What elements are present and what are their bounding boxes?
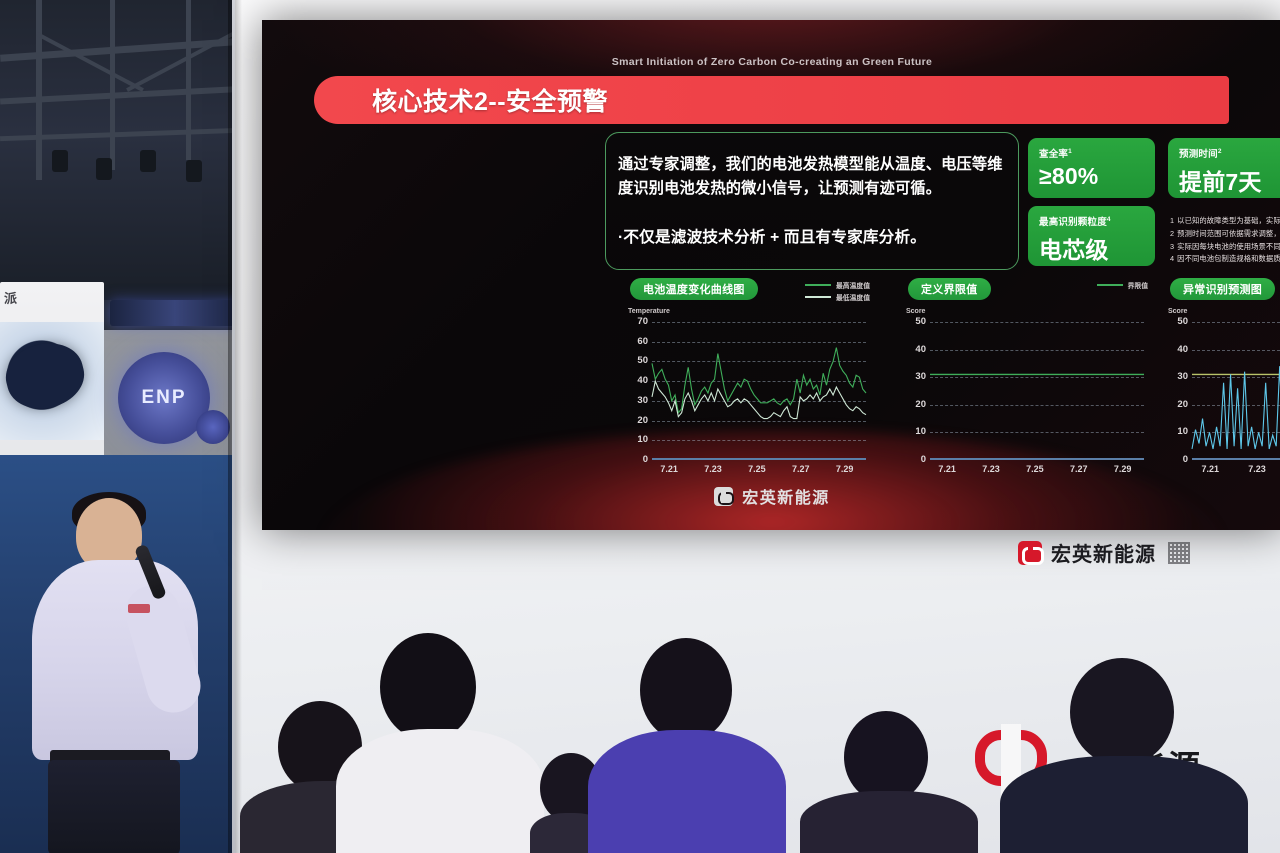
- photo-scene: 派 ENP Smart Initiation of Zero Carbon Co…: [0, 0, 1280, 853]
- chart-series-svg: [930, 322, 1144, 460]
- product-display-label: 派: [4, 288, 98, 316]
- chart-threshold-definition: 定义界限值界限值Score010203040507.217.237.257.27…: [900, 278, 1148, 478]
- x-axis-tick: 7.21: [1201, 464, 1219, 474]
- wall-brand-logo: 宏英新能源: [1018, 538, 1190, 567]
- y-axis-tick: 30: [1164, 371, 1188, 382]
- x-axis-tick: 7.23: [704, 464, 722, 474]
- legend-item: 最高温度值: [805, 280, 870, 290]
- chart-battery-temperature: 电池温度变化曲线图最高温度值最低温度值Temperature0102030405…: [622, 278, 870, 478]
- legend-swatch: [1097, 284, 1123, 286]
- legend-swatch: [805, 296, 831, 298]
- audience-member: [800, 703, 980, 853]
- y-axis-tick: 70: [624, 316, 648, 327]
- y-axis-tick: 60: [624, 336, 648, 347]
- wall-brand-text: 宏英新能源: [1051, 538, 1156, 567]
- y-axis-tick: 0: [624, 454, 648, 465]
- data-series-line: [1192, 322, 1280, 449]
- decorative-circle: [196, 410, 230, 444]
- y-axis-tick: 20: [902, 399, 926, 410]
- audience-member: [588, 638, 788, 853]
- background-product-display: 派: [0, 282, 104, 462]
- stat-badge-lead-time-caption: 预测时间2: [1179, 146, 1278, 160]
- stat-badge-granularity-caption: 最高识别颗粒度4: [1039, 214, 1145, 228]
- x-axis-tick: 7.27: [1070, 464, 1088, 474]
- chart-series-svg: [1192, 322, 1280, 460]
- x-axis-tick: 7.23: [982, 464, 1000, 474]
- product-photo: [0, 322, 104, 440]
- y-axis-tick: 40: [1164, 344, 1188, 355]
- stat-badge-lead-time: 预测时间2 提前7天: [1168, 138, 1280, 198]
- stat-badge-recall-caption: 查全率1: [1039, 146, 1145, 160]
- slide-body-box: 通过专家调整，我们的电池发热模型能从温度、电压等维度识别电池发热的微小信号，让预…: [605, 132, 1019, 270]
- x-axis-tick: 7.21: [660, 464, 678, 474]
- legend-item: 界限值: [1097, 280, 1148, 290]
- footnote-item: 2预测时间范围可依据需求调整，以实际结果为准。: [1170, 228, 1280, 241]
- legend-label: 最高温度值: [836, 280, 870, 290]
- legend-swatch: [805, 284, 831, 286]
- footnote-item: 1以已知的故障类型为基础，实际因场景和电池材料不同有区别 。: [1170, 215, 1280, 228]
- legend-item: 最低温度值: [805, 292, 870, 302]
- stat-badge-lead-time-value: 提前7天: [1179, 163, 1278, 197]
- y-axis-tick: 50: [1164, 316, 1188, 327]
- stat-badge-recall-value: ≥80%: [1039, 163, 1145, 190]
- presentation-slide: Smart Initiation of Zero Carbon Co-creat…: [262, 20, 1280, 530]
- wall-edge: [232, 0, 235, 853]
- x-axis-tick: 7.25: [748, 464, 766, 474]
- y-axis-label: Score: [1168, 308, 1187, 315]
- y-axis-tick: 50: [624, 355, 648, 366]
- plot-area: 010203040507.217.237.257.277.29: [1192, 322, 1280, 460]
- footnote-item: 3实际因每块电池的使用场景不同而有差异。: [1170, 241, 1280, 254]
- y-axis-tick: 30: [902, 371, 926, 382]
- x-axis-tick: 7.27: [792, 464, 810, 474]
- hongying-logo-icon: [714, 487, 733, 506]
- slide-body-bullet: ·不仅是滤波技术分析 + 而且有专家库分析。: [618, 225, 1014, 247]
- x-axis-tick: 7.29: [1114, 464, 1132, 474]
- y-axis-tick: 30: [624, 395, 648, 406]
- x-axis-tick: 7.23: [1248, 464, 1266, 474]
- stat-badge-recall: 查全率1 ≥80%: [1028, 138, 1155, 198]
- chart-title: 异常识别预测图: [1170, 278, 1275, 300]
- chart-title: 电池温度变化曲线图: [630, 278, 758, 300]
- y-axis-tick: 0: [1164, 454, 1188, 465]
- slide-footer-logo: 宏英新能源: [262, 484, 1280, 508]
- legend-label: 界限值: [1128, 280, 1148, 290]
- slide-footnotes: 1以已知的故障类型为基础，实际因场景和电池材料不同有区别 。 2预测时间范围可依…: [1170, 215, 1280, 266]
- y-axis-label: Score: [906, 308, 925, 315]
- slide-title-banner: 核心技术2--安全预警: [314, 76, 1229, 124]
- y-axis-tick: 20: [1164, 399, 1188, 410]
- presenter-trousers: [48, 760, 180, 853]
- slide-footer-brand: 宏英新能源: [742, 484, 830, 508]
- stat-badge-granularity-value: 电芯级: [1039, 231, 1145, 265]
- x-axis-tick: 7.29: [836, 464, 854, 474]
- presenter: [32, 498, 212, 853]
- plot-area: 0102030405060707.217.237.257.277.29: [652, 322, 866, 460]
- audience-member: [1000, 658, 1250, 853]
- qr-code-icon: [1168, 542, 1190, 564]
- slide-subtitle-english: Smart Initiation of Zero Carbon Co-creat…: [262, 56, 1280, 68]
- y-axis-tick: 20: [624, 415, 648, 426]
- chart-series-svg: [652, 322, 866, 460]
- background-booth-header: [110, 300, 240, 326]
- hongying-logo-icon: [1018, 541, 1042, 565]
- data-series-line: [652, 381, 866, 418]
- y-axis-tick: 50: [902, 316, 926, 327]
- x-axis-tick: 7.21: [938, 464, 956, 474]
- audience-member: [336, 633, 546, 853]
- slide-title: 核心技术2--安全预警: [372, 82, 608, 118]
- chart-anomaly-prediction: 异常识别预测图界限值异常分数Score010203040507.217.237.…: [1162, 278, 1280, 478]
- y-axis-tick: 40: [902, 344, 926, 355]
- stat-badge-granularity: 最高识别颗粒度4 电芯级: [1028, 206, 1155, 266]
- y-axis-tick: 40: [624, 375, 648, 386]
- chart-title: 定义界限值: [908, 278, 991, 300]
- y-axis-tick: 10: [624, 434, 648, 445]
- y-axis-label: Temperature: [628, 308, 670, 315]
- y-axis-tick: 0: [902, 454, 926, 465]
- legend-label: 最低温度值: [836, 292, 870, 302]
- slide-body-paragraph: 通过专家调整，我们的电池发热模型能从温度、电压等维度识别电池发热的微小信号，让预…: [618, 153, 1010, 202]
- presenter-shirt-logo: [128, 604, 150, 613]
- plot-area: 010203040507.217.237.257.277.29: [930, 322, 1144, 460]
- y-axis-tick: 10: [1164, 426, 1188, 437]
- y-axis-tick: 10: [902, 426, 926, 437]
- footnote-item: 4因不同电池包制造规格和数据质量而有不同。: [1170, 253, 1280, 266]
- x-axis-tick: 7.25: [1026, 464, 1044, 474]
- chart-legend: 最高温度值最低温度值: [805, 280, 870, 304]
- chart-legend: 界限值: [1097, 280, 1148, 292]
